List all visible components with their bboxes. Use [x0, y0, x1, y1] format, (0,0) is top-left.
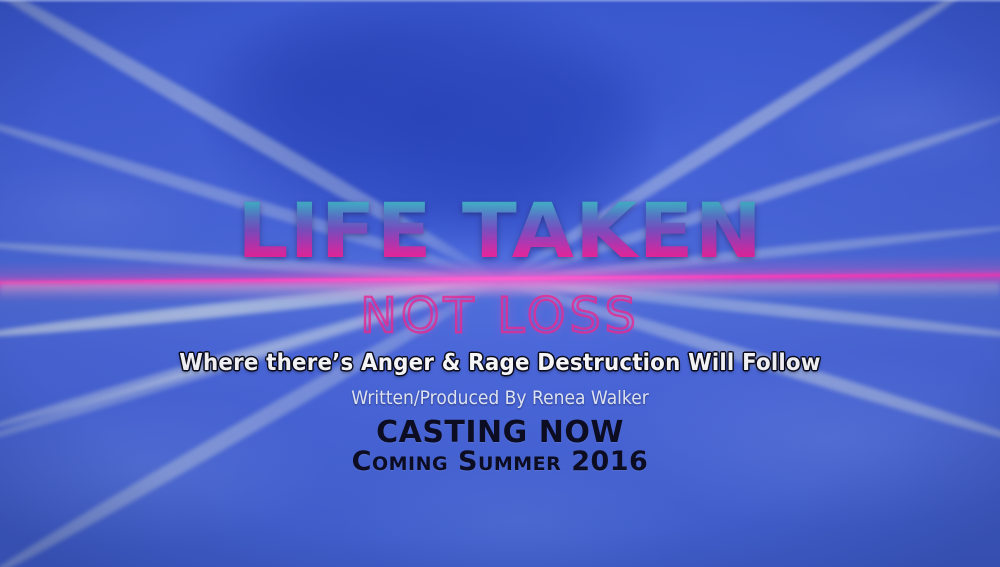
top-edge-highlight: [0, 0, 1000, 3]
movie-poster: LIFE TAKEN NOT LOSS Where there’s Anger …: [0, 0, 1000, 567]
vignette-overlay: [0, 0, 1000, 567]
